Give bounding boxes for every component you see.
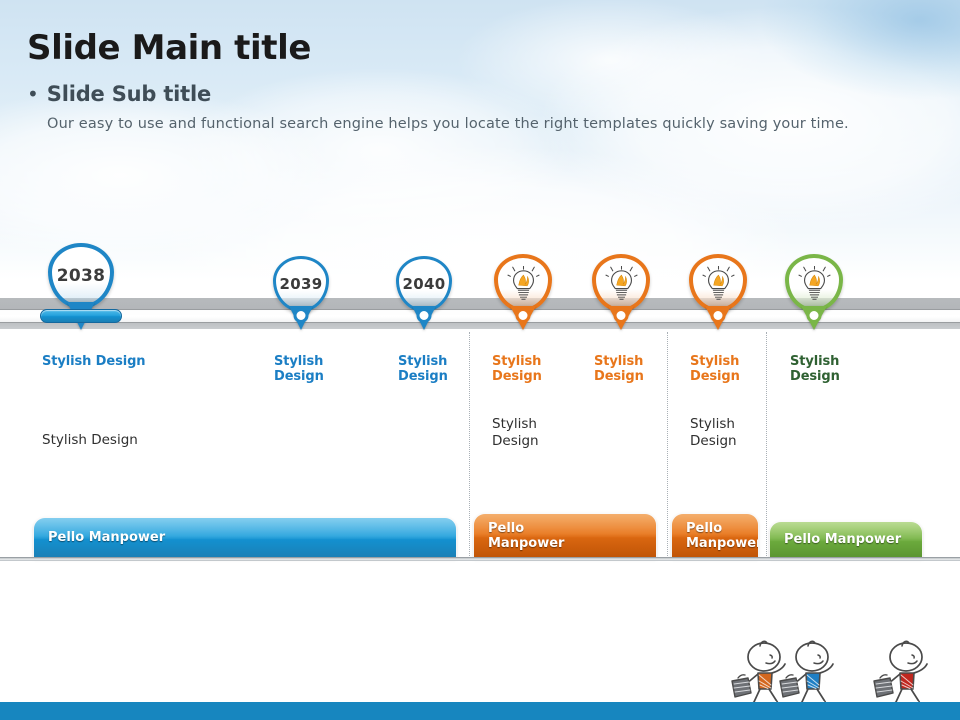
pin-head: 2038 <box>48 243 114 309</box>
pello-label: Pello Manpower <box>784 532 901 547</box>
marker-year-label: 2040 <box>403 275 446 293</box>
timeline-dot[interactable] <box>294 308 309 323</box>
intro-paragraph: Our easy to use and functional search en… <box>47 116 849 132</box>
pello-bar-2[interactable]: Pello Manpower <box>474 514 656 558</box>
timeline-dot[interactable] <box>516 308 531 323</box>
pello-bar-4[interactable]: Pello Manpower <box>770 522 922 558</box>
timeline-dot[interactable] <box>417 308 432 323</box>
col-2-heading: Stylish Design <box>274 354 338 385</box>
person-2 <box>780 641 833 707</box>
col-1-heading: Stylish Design <box>42 354 242 369</box>
lightbulb-icon <box>797 266 832 301</box>
col-4-heading: Stylish Design <box>492 354 556 385</box>
col-6-heading: Stylish Design <box>690 354 754 385</box>
marker-year-label: 2039 <box>280 275 323 293</box>
slide-canvas: Slide Main title • Slide Sub title Our e… <box>0 0 960 720</box>
column-divider <box>667 332 668 558</box>
pello-label: Pello Manpower <box>48 530 165 545</box>
pello-label: Pello Manpower <box>488 521 564 552</box>
pin-head <box>592 254 650 312</box>
col-3-heading: Stylish Design <box>398 354 462 385</box>
person-1 <box>732 641 785 707</box>
page-title: Slide Main title <box>27 28 311 68</box>
col-5-heading: Stylish Design <box>594 354 658 385</box>
col-7-heading: Stylish Design <box>790 354 856 385</box>
col-4-body: Stylish Design <box>492 416 552 450</box>
stick-figures-svg <box>726 640 942 710</box>
content-columns: Stylish DesignStylish DesignStylish Desi… <box>0 332 960 558</box>
lightbulb-icon <box>701 266 736 301</box>
subtitle-row: • Slide Sub title <box>27 82 211 106</box>
timeline-active-bar[interactable] <box>40 309 122 323</box>
pin-head <box>689 254 747 312</box>
column-divider <box>766 332 767 558</box>
timeline-dot[interactable] <box>807 308 822 323</box>
lightbulb-icon <box>604 266 639 301</box>
pello-bar-3[interactable]: Pello Manpower <box>672 514 758 558</box>
col-1-body: Stylish Design <box>42 432 242 449</box>
col-6-body: Stylish Design <box>690 416 750 450</box>
column-divider <box>469 332 470 558</box>
pin-head <box>494 254 552 312</box>
pin-head: 2040 <box>396 256 452 312</box>
timeline-dot[interactable] <box>711 308 726 323</box>
pello-label: Pello Manpower <box>686 521 758 552</box>
section-divider <box>0 557 960 561</box>
lightbulb-icon <box>506 266 541 301</box>
page-subtitle: Slide Sub title <box>47 82 211 106</box>
pello-bar-1[interactable]: Pello Manpower <box>34 518 456 558</box>
bullet-icon: • <box>27 84 39 104</box>
timeline-dot[interactable] <box>614 308 629 323</box>
stick-figures-illustration <box>726 640 942 710</box>
footer-bar <box>0 702 960 720</box>
pin-head: 2039 <box>273 256 329 312</box>
pin-head <box>785 254 843 312</box>
marker-year-label: 2038 <box>57 266 106 286</box>
person-3 <box>874 641 927 707</box>
